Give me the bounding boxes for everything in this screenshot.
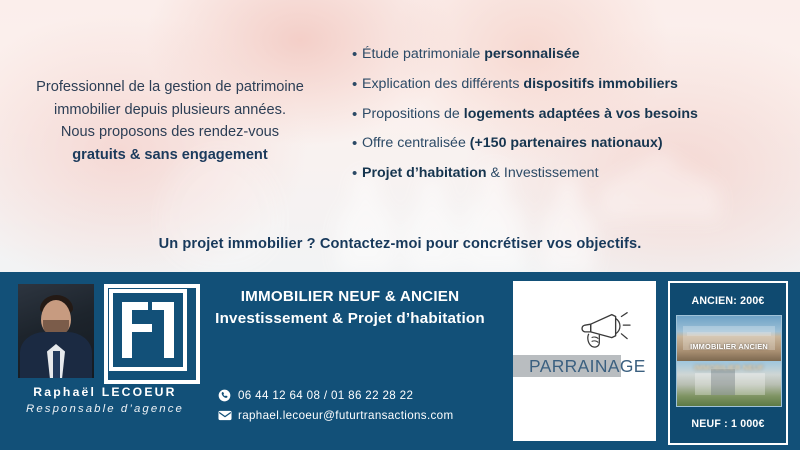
property-image-ancien: IMMOBILIER ANCIEN <box>677 316 781 361</box>
phone-row[interactable]: 06 44 12 64 08 / 01 86 22 28 22 <box>218 388 518 402</box>
business-line-1: IMMOBILIER NEUF & ANCIEN <box>200 288 500 305</box>
property-caption-neuf: IMMOBILIER NEUF <box>677 363 781 372</box>
bullet-dot-icon: • <box>352 165 362 182</box>
list-item-text: Offre centralisée (+150 partenaires nati… <box>362 135 784 153</box>
bullet-dot-icon: • <box>352 46 362 63</box>
bullet-dot-icon: • <box>352 76 362 93</box>
avatar <box>18 284 94 378</box>
intro-paragraph: Professionnel de la gestion de patrimoin… <box>14 76 326 166</box>
megaphone-icon <box>573 305 641 353</box>
list-item: • Étude patrimoniale personnalisée <box>352 46 784 64</box>
list-item: • Offre centralisée (+150 partenaires na… <box>352 135 784 153</box>
intro-line-1: Professionnel de la gestion de patrimoin… <box>14 76 326 99</box>
silhouette-body-3 <box>462 196 526 272</box>
building-block-new <box>711 369 735 395</box>
contact-details: 06 44 12 64 08 / 01 86 22 28 22 raphael.… <box>218 388 518 428</box>
parrainage-panel: PARRAINAGE <box>513 281 656 441</box>
bullet-dot-icon: • <box>352 106 362 123</box>
email-address: raphael.lecoeur@futurtransactions.com <box>238 409 453 422</box>
list-item-bold: (+150 partenaires nationaux) <box>470 135 663 151</box>
benefits-list: • Étude patrimoniale personnalisée • Exp… <box>352 46 784 195</box>
list-item-plain: Offre centralisée <box>362 135 470 151</box>
company-logo <box>104 284 200 384</box>
parrainage-label-wrap: PARRAINAGE <box>513 353 656 379</box>
list-item-bold: logements adaptées à vos besoins <box>464 106 698 122</box>
property-image-neuf: IMMOBILIER NEUF <box>677 361 781 406</box>
property-images: IMMOBILIER ANCIEN IMMOBILIER NEUF <box>676 315 782 407</box>
price-neuf: NEUF : 1 000€ <box>670 418 786 430</box>
list-item-plain: Propositions de <box>362 106 464 122</box>
list-item: • Explication des différents dispositifs… <box>352 76 784 94</box>
bullet-dot-icon: • <box>352 135 362 152</box>
intro-line-4-bold: gratuits & sans engagement <box>14 144 326 167</box>
business-titles: IMMOBILIER NEUF & ANCIEN Investissement … <box>200 288 500 327</box>
list-item: • Projet d’habitation & Investissement <box>352 165 784 183</box>
intro-line-2: immobilier depuis plusieurs années. <box>14 99 326 122</box>
silhouette-hands <box>160 150 280 270</box>
agent-role: Responsable d’agence <box>10 403 200 415</box>
email-row[interactable]: raphael.lecoeur@futurtransactions.com <box>218 408 518 422</box>
list-item-bold: Projet d’habitation <box>362 165 487 181</box>
list-item-bold: dispositifs immobiliers <box>523 76 678 92</box>
envelope-icon <box>218 408 238 422</box>
intro-line-3: Nous proposons des rendez-vous <box>14 121 326 144</box>
list-item-text: Projet d’habitation & Investissement <box>362 165 784 183</box>
phone-icon <box>218 388 238 402</box>
phone-number: 06 44 12 64 08 / 01 86 22 28 22 <box>238 389 413 402</box>
flyer-canvas: Professionnel de la gestion de patrimoin… <box>0 0 800 450</box>
list-item-text: Propositions de logements adaptées à vos… <box>362 106 784 124</box>
list-item: • Propositions de logements adaptées à v… <box>352 106 784 124</box>
agent-name: Raphaël LECOEUR <box>10 385 200 399</box>
logo-monogram-ft-icon <box>108 288 188 372</box>
call-to-action-tagline: Un projet immobilier ? Contactez-moi pou… <box>0 236 800 252</box>
property-caption-ancien: IMMOBILIER ANCIEN <box>677 342 781 351</box>
list-item-text: Étude patrimoniale personnalisée <box>362 46 784 64</box>
list-item-text: Explication des différents dispositifs i… <box>362 76 784 94</box>
business-line-2: Investissement & Projet d’habitation <box>200 310 500 327</box>
list-item-plain-2: & Investissement <box>487 165 599 181</box>
parrainage-label: PARRAINAGE <box>529 353 646 379</box>
price-panel: ANCIEN: 200€ IMMOBILIER ANCIEN IMMOBILIE… <box>668 281 788 445</box>
price-ancien: ANCIEN: 200€ <box>670 295 786 307</box>
list-item-plain: Étude patrimoniale <box>362 46 484 62</box>
list-item-bold: personnalisée <box>484 46 579 62</box>
avatar-tie <box>53 351 60 378</box>
building-window-row <box>687 332 771 336</box>
list-item-plain: Explication des différents <box>362 76 523 92</box>
contact-banner: Raphaël LECOEUR Responsable d’agence IMM… <box>0 272 800 450</box>
